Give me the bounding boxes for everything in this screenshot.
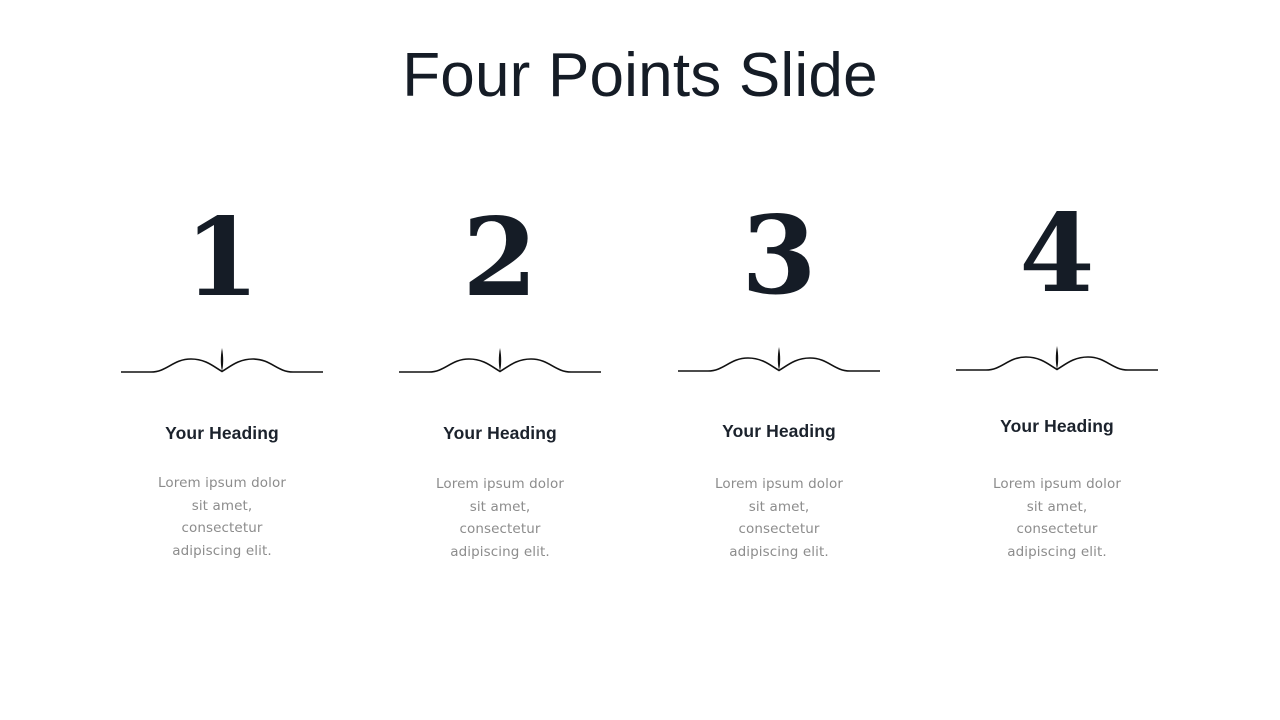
point-heading-1: Your Heading xyxy=(92,423,352,444)
point-item-4[interactable]: 4 Your Heading Lorem ipsum dolor sit ame… xyxy=(927,0,1187,720)
flourish-divider-icon-3 xyxy=(678,344,880,378)
point-heading-2: Your Heading xyxy=(370,423,630,444)
flourish-divider-icon-2 xyxy=(399,345,601,379)
body-line: Lorem ipsum dolor xyxy=(669,473,889,496)
body-line: consectetur xyxy=(669,518,889,541)
body-line: sit amet, xyxy=(669,496,889,519)
point-number-3: 3 xyxy=(649,202,909,310)
point-heading-4: Your Heading xyxy=(927,416,1187,437)
point-item-1[interactable]: 1 Your Heading Lorem ipsum dolor sit ame… xyxy=(92,0,352,720)
body-line: sit amet, xyxy=(390,496,610,519)
body-line: Lorem ipsum dolor xyxy=(947,473,1167,496)
point-heading-3: Your Heading xyxy=(649,421,909,442)
body-line: consectetur xyxy=(112,517,332,540)
body-line: adipiscing elit. xyxy=(390,541,610,564)
point-item-3[interactable]: 3 Your Heading Lorem ipsum dolor sit ame… xyxy=(649,0,909,720)
point-item-2[interactable]: 2 Your Heading Lorem ipsum dolor sit ame… xyxy=(370,0,630,720)
body-line: consectetur xyxy=(390,518,610,541)
body-line: consectetur xyxy=(947,518,1167,541)
body-line: adipiscing elit. xyxy=(947,541,1167,564)
point-body-3: Lorem ipsum dolor sit amet, consectetur … xyxy=(669,473,889,564)
flourish-divider-icon-4 xyxy=(956,343,1158,377)
point-body-2: Lorem ipsum dolor sit amet, consectetur … xyxy=(390,473,610,564)
body-line: Lorem ipsum dolor xyxy=(112,472,332,495)
flourish-divider-icon-1 xyxy=(121,345,323,379)
point-body-1: Lorem ipsum dolor sit amet, consectetur … xyxy=(112,472,332,563)
points-row: 1 Your Heading Lorem ipsum dolor sit ame… xyxy=(0,0,1280,720)
point-number-4: 4 xyxy=(927,200,1187,308)
body-line: adipiscing elit. xyxy=(112,540,332,563)
point-body-4: Lorem ipsum dolor sit amet, consectetur … xyxy=(947,473,1167,564)
body-line: adipiscing elit. xyxy=(669,541,889,564)
body-line: Lorem ipsum dolor xyxy=(390,473,610,496)
point-number-1: 1 xyxy=(92,204,352,312)
slide-canvas: Four Points Slide 1 Your Heading Lorem i… xyxy=(0,0,1280,720)
body-line: sit amet, xyxy=(112,495,332,518)
body-line: sit amet, xyxy=(947,496,1167,519)
point-number-2: 2 xyxy=(370,204,630,312)
